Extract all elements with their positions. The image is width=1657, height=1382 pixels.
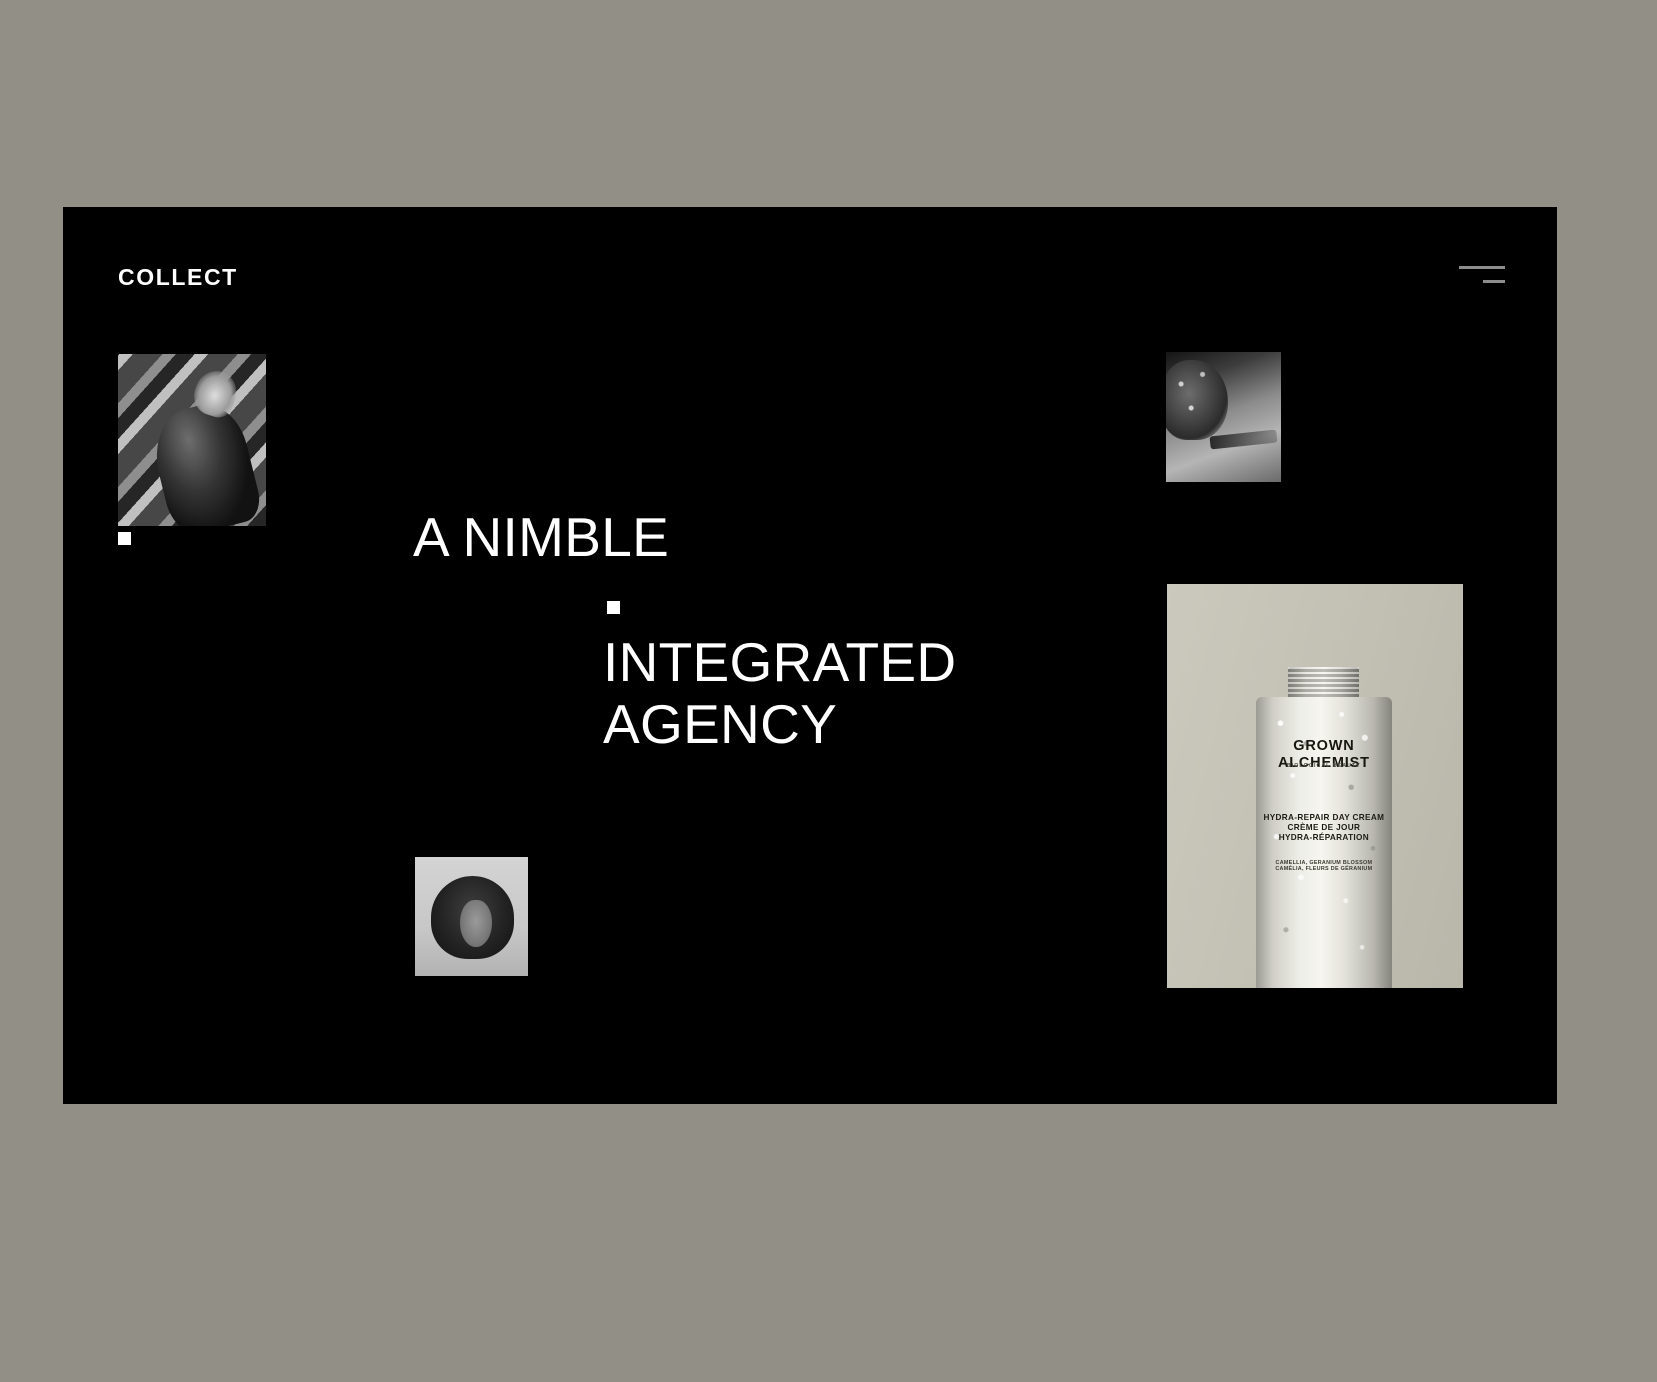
site-header: COLLECT — [63, 207, 1557, 347]
brand-logo[interactable]: COLLECT — [118, 266, 238, 289]
product-tube: GROWN ALCHEMIST BIOLOGICAL BEAUTY HYDRA-… — [1256, 697, 1392, 988]
page-canvas: COLLECT GROWN ALCHEMIST BIOLOGICAL BEAUT… — [0, 0, 1657, 1382]
site-footer: MUSTERSTRASSE 123, 10115 BERLIN, GERMANY… — [63, 954, 1557, 1104]
hamburger-icon[interactable] — [1459, 260, 1505, 286]
photo-product-image: GROWN ALCHEMIST BIOLOGICAL BEAUTY HYDRA-… — [1167, 584, 1463, 988]
headline-line-3: AGENCY — [603, 694, 837, 755]
product-water-droplets — [1256, 697, 1392, 988]
headline-line-1: A NIMBLE — [413, 507, 669, 568]
square-marker-photo — [118, 532, 131, 545]
headline-line-2: INTEGRATED — [603, 632, 956, 693]
hamburger-bar-bottom — [1483, 280, 1505, 283]
hamburger-bar-top — [1459, 266, 1505, 269]
photo-stairs[interactable] — [118, 354, 266, 526]
hero-card: COLLECT GROWN ALCHEMIST BIOLOGICAL BEAUT… — [63, 207, 1557, 1104]
photo-tattoo-image — [1166, 352, 1281, 482]
photo-stairs-image — [118, 354, 266, 526]
photo-product[interactable]: GROWN ALCHEMIST BIOLOGICAL BEAUTY HYDRA-… — [1167, 584, 1463, 988]
square-marker-headline — [607, 601, 620, 614]
photo-tattoo[interactable] — [1166, 352, 1281, 482]
